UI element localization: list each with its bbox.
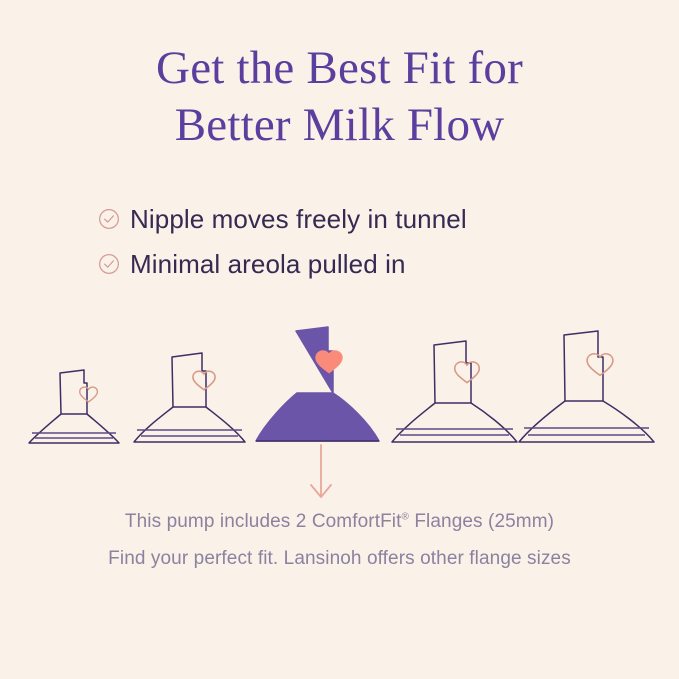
- footer-text: This pump includes 2 ComfortFit® Flanges…: [0, 512, 679, 586]
- heart-outline-icon: [587, 354, 613, 376]
- registered-trademark-icon: ®: [402, 512, 409, 523]
- flange-size-1[interactable]: [22, 359, 126, 445]
- flange-size-4[interactable]: [386, 335, 524, 445]
- list-item: Nipple moves freely in tunnel: [0, 202, 679, 236]
- circle-check-icon: [98, 253, 120, 275]
- page-title-line-1: Get the Best Fit for: [0, 40, 679, 97]
- list-item-label: Minimal areola pulled in: [130, 251, 406, 277]
- flange-size-5[interactable]: [514, 327, 660, 445]
- heart-outline-icon: [455, 362, 480, 383]
- benefit-list: Nipple moves freely in tunnel Minimal ar…: [0, 202, 679, 292]
- heart-outline-icon: [193, 371, 215, 390]
- footer-line-2: Find your perfect fit. Lansinoh offers o…: [0, 549, 679, 568]
- list-item: Minimal areola pulled in: [0, 247, 679, 281]
- list-item-label: Nipple moves freely in tunnel: [130, 206, 467, 232]
- down-arrow-icon: [296, 443, 346, 505]
- page-title: Get the Best Fit for Better Milk Flow: [0, 40, 679, 155]
- footer-line-1: This pump includes 2 ComfortFit® Flanges…: [0, 512, 679, 531]
- promo-graphic: Get the Best Fit for Better Milk Flow Ni…: [0, 0, 679, 679]
- page-title-line-2: Better Milk Flow: [0, 97, 679, 154]
- heart-outline-icon: [80, 387, 98, 402]
- flange-size-3[interactable]: [252, 321, 386, 445]
- flange-size-2[interactable]: [128, 345, 252, 445]
- footer-line-1-pre: This pump includes 2 ComfortFit: [125, 511, 402, 532]
- flange-size-row: [0, 320, 679, 445]
- footer-line-1-post: Flanges (25mm): [409, 511, 554, 532]
- circle-check-icon: [98, 208, 120, 230]
